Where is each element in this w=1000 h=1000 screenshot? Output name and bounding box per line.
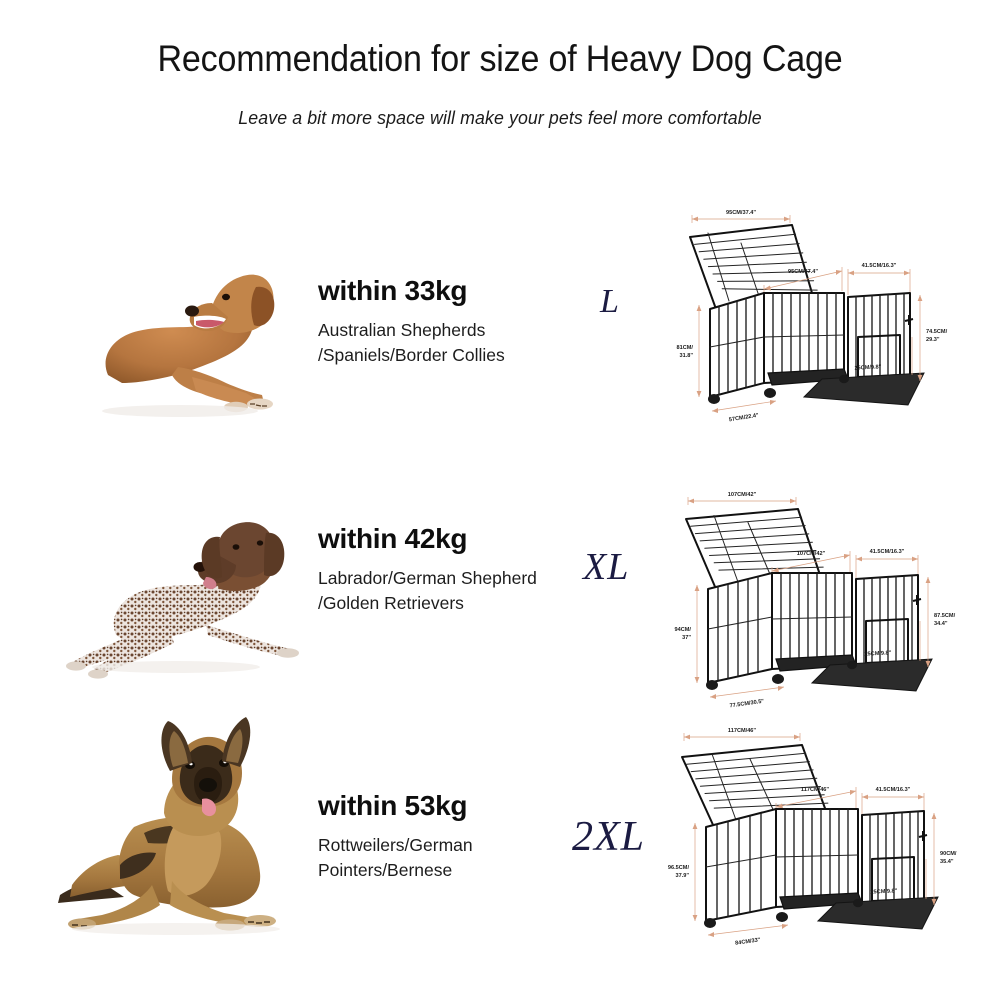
cage-diagram-2xl: 117CM/46" — [672, 715, 972, 965]
cage-diagram-l: 95CM/37.4" — [672, 197, 972, 447]
australian-shepherd-photo — [60, 225, 320, 435]
dim-right-height: 87.5CM/ 34.4" — [926, 577, 956, 667]
dim-left-height: 96.5CM/ 37.9" — [668, 823, 698, 921]
dim-door-width-text: 41.5CM/16.3" — [862, 263, 897, 269]
dim-right-height: 74.5CM/ 29.3" — [918, 295, 948, 381]
infographic-page: Recommendation for size of Heavy Dog Cag… — [0, 0, 1000, 1000]
page-subtitle: Leave a bit more space will make your pe… — [20, 107, 980, 129]
cage-tray — [780, 893, 938, 929]
breeds-line-1: Labrador/German Shepherd — [318, 566, 598, 591]
dim-lid-width: 117CM/46" — [684, 728, 800, 741]
dim-body-length-text: 107CM/42" — [797, 551, 826, 557]
german-shorthaired-pointer-photo — [60, 485, 320, 695]
breeds-line-1: Rottweilers/German — [318, 833, 598, 858]
size-label-xl: XL — [583, 545, 629, 589]
dim-right-height-line-1: 87.5CM/ — [934, 613, 956, 619]
dim-depth: 57CM/22.4" — [712, 400, 776, 423]
dim-left-height-line-2: 31.8" — [679, 353, 693, 359]
cage-tray — [768, 369, 924, 405]
cage-tray — [776, 655, 932, 691]
dim-left-height: 81CM/ 31.8" — [677, 305, 702, 397]
dim-lid-width: 107CM/42" — [688, 492, 796, 505]
page-title: Recommendation for size of Heavy Dog Cag… — [40, 38, 960, 81]
dim-left-height-line-2: 37.9" — [675, 873, 689, 879]
info-block-xl: within 42kg Labrador/German Shepherd /Go… — [318, 523, 598, 616]
breeds-line-1: Australian Shepherds — [318, 318, 598, 343]
dim-depth: 84CM/33" — [708, 924, 788, 947]
cage-diagram-xl: 107CM/42" — [672, 479, 972, 729]
dim-left-height-line-1: 81CM/ — [677, 345, 694, 351]
breeds-list: Rottweilers/German Pointers/Bernese — [318, 833, 598, 883]
dim-right-height-line-2: 29.3" — [926, 337, 940, 343]
breeds-line-2: /Golden Retrievers — [318, 591, 598, 616]
weight-label: within 33kg — [318, 275, 598, 307]
dim-door-width-text: 41.5CM/16.3" — [876, 787, 911, 793]
breeds-line-2: /Spaniels/Border Collies — [318, 343, 598, 368]
dim-left-height-line-2: 37" — [682, 635, 691, 641]
dim-right-height-line-1: 90CM/ — [940, 851, 957, 857]
info-block-l: within 33kg Australian Shepherds /Spanie… — [318, 275, 598, 368]
dim-body-length-text: 95CM/37.4" — [788, 269, 818, 275]
dim-body-length-text: 117CM/46" — [801, 787, 829, 793]
dim-right-height-line-1: 74.5CM/ — [926, 329, 948, 335]
dim-door-width: 41.5CM/16.3" — [848, 263, 910, 297]
dim-depth-text: 84CM/33" — [735, 937, 761, 947]
breeds-line-2: Pointers/Bernese — [318, 858, 598, 883]
size-row-xl: within 42kg Labrador/German Shepherd /Go… — [0, 485, 1000, 715]
dim-left-height-line-1: 94CM/ — [675, 627, 692, 633]
dim-left-height-line-1: 96.5CM/ — [668, 865, 690, 871]
dim-right-height-line-2: 34.4" — [934, 621, 948, 627]
info-block-2xl: within 53kg Rottweilers/German Pointers/… — [318, 790, 598, 883]
size-label-2xl: 2XL — [572, 813, 645, 861]
size-row-2xl: within 53kg Rottweilers/German Pointers/… — [0, 705, 1000, 960]
size-row-l: within 33kg Australian Shepherds /Spanie… — [0, 225, 1000, 455]
dim-lid-width-text: 107CM/42" — [728, 492, 757, 498]
size-label-l: L — [600, 283, 620, 321]
dim-right-height: 90CM/ 35.4" — [932, 813, 957, 905]
breeds-list: Australian Shepherds /Spaniels/Border Co… — [318, 318, 598, 368]
header: Recommendation for size of Heavy Dog Cag… — [0, 38, 1000, 129]
breeds-list: Labrador/German Shepherd /Golden Retriev… — [318, 566, 598, 616]
dim-depth-text: 57CM/22.4" — [729, 413, 760, 424]
weight-label: within 53kg — [318, 790, 598, 822]
dim-lid-width-text: 117CM/46" — [728, 728, 756, 734]
weight-label: within 42kg — [318, 523, 598, 555]
dim-lid-width-text: 95CM/37.4" — [726, 210, 756, 216]
dim-lid-width: 95CM/37.4" — [692, 210, 790, 223]
german-shepherd-photo — [48, 705, 328, 935]
dim-left-height: 94CM/ 37" — [675, 585, 700, 683]
dim-right-height-line-2: 35.4" — [940, 859, 954, 865]
dim-door-width-text: 41.5CM/16.3" — [870, 549, 905, 555]
